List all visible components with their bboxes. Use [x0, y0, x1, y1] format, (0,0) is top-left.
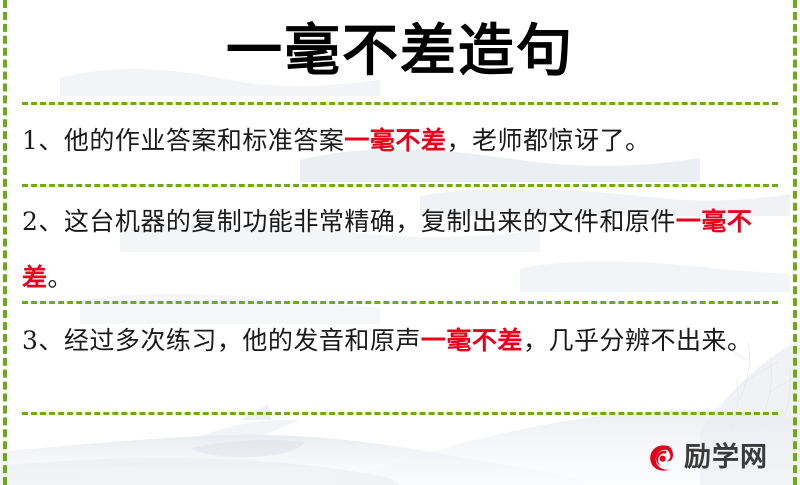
- sentence-text-after: 。: [48, 263, 74, 292]
- highlighted-idiom: 一毫不差: [421, 326, 523, 355]
- site-logo[interactable]: 励学网: [645, 441, 768, 475]
- sentence-list: 1、他的作业答案和标准答案一毫不差，老师都惊讶了。 2、这台机器的复制功能非常精…: [20, 103, 780, 412]
- sentence-text-before: 这台机器的复制功能非常精确，复制出来的文件和原件: [64, 207, 676, 236]
- sentence-index: 1、: [22, 126, 64, 155]
- highlighted-idiom: 一毫不差: [344, 126, 446, 155]
- list-item: 3、经过多次练习，他的发音和原声一毫不差，几乎分辨不出来。: [20, 301, 780, 412]
- divider-after-sentence-3: [22, 412, 778, 415]
- sentence-text-before: 经过多次练习，他的发音和原声: [64, 326, 421, 355]
- list-item: 2、这台机器的复制功能非常精确，复制出来的文件和原件一毫不差。: [20, 184, 780, 301]
- sentence-index: 3、: [22, 326, 64, 355]
- sentence-text-before: 他的作业答案和标准答案: [64, 126, 345, 155]
- sentence-index: 2、: [22, 207, 64, 236]
- page-root: 一毫不差造句 1、他的作业答案和标准答案一毫不差，老师都惊讶了。 2、这台机器的…: [0, 0, 800, 485]
- site-logo-text: 励学网: [684, 443, 768, 473]
- page-title: 一毫不差造句: [0, 8, 800, 94]
- sentence-text-after: ，老师都惊讶了。: [446, 126, 650, 155]
- sentence-text-after: ，几乎分辨不出来。: [523, 326, 753, 355]
- list-item: 1、他的作业答案和标准答案一毫不差，老师都惊讶了。: [20, 103, 780, 184]
- red-swirl-phoenix-icon: [645, 441, 679, 475]
